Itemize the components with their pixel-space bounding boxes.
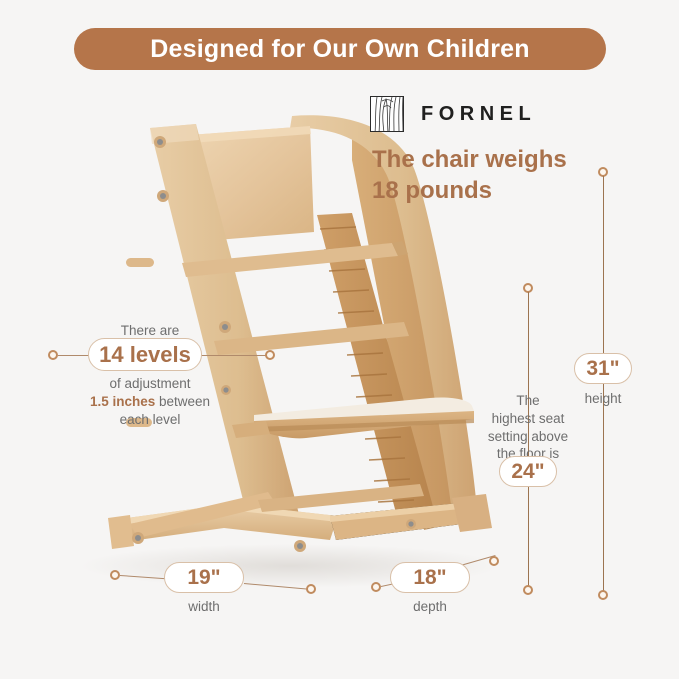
- weight-headline: The chair weighs 18 pounds: [372, 145, 662, 206]
- seat-height-caption-line2: highest seat: [465, 410, 591, 428]
- levels-caption-line2-bold: 1.5 inches: [90, 394, 155, 409]
- depth-value: 18": [413, 566, 446, 590]
- weight-headline-line2: 18 pounds: [372, 176, 662, 207]
- brand-name: FORNEL: [421, 103, 536, 126]
- brand-lockup: FORNEL: [370, 96, 536, 132]
- seat-height-value-pill: 24": [499, 456, 557, 487]
- levels-value: 14 levels: [99, 342, 191, 368]
- depth-dot-left: [371, 582, 381, 592]
- width-label: width: [164, 598, 244, 616]
- width-value-pill: 19": [164, 562, 244, 593]
- levels-caption-line3: each level: [68, 411, 232, 429]
- wood-grain-square-icon: [370, 96, 404, 132]
- levels-leader-dot-right: [265, 350, 275, 360]
- total-height-dot-bottom: [598, 590, 608, 600]
- levels-caption-line2-rest: between: [155, 394, 210, 409]
- total-height-line-upper: [603, 176, 604, 353]
- seat-height-value: 24": [511, 460, 544, 484]
- total-height-line-lower: [603, 384, 604, 595]
- depth-label: depth: [390, 598, 470, 616]
- depth-value-pill: 18": [390, 562, 470, 593]
- total-height-label: height: [566, 390, 640, 408]
- width-dot-right: [306, 584, 316, 594]
- total-height-value: 31": [586, 357, 619, 381]
- banner-title: Designed for Our Own Children: [150, 35, 529, 64]
- width-dot-left: [110, 570, 120, 580]
- depth-dot-right: [489, 556, 499, 566]
- chair-front-foot: [108, 515, 134, 549]
- seat-height-caption-line3: setting above: [465, 428, 591, 446]
- seat-height-dot-bottom: [523, 585, 533, 595]
- levels-leader-dot-left: [48, 350, 58, 360]
- total-height-value-pill: 31": [574, 353, 632, 384]
- seat-height-line-lower: [528, 486, 529, 590]
- infographic-canvas: Designed for Our Own Children FORNEL: [0, 0, 679, 679]
- levels-caption-line2: 1.5 inches between: [68, 393, 232, 411]
- levels-caption-line1: of adjustment: [68, 375, 232, 393]
- width-value: 19": [187, 566, 220, 590]
- header-banner: Designed for Our Own Children: [74, 28, 606, 70]
- levels-caption-below: of adjustment 1.5 inches between each le…: [68, 375, 232, 428]
- levels-leader-line-right: [200, 355, 270, 356]
- chair-rear-foot: [452, 494, 492, 532]
- chair-peg-left: [126, 258, 154, 267]
- weight-headline-line1: The chair weighs: [372, 145, 662, 176]
- levels-value-pill: 14 levels: [88, 338, 202, 371]
